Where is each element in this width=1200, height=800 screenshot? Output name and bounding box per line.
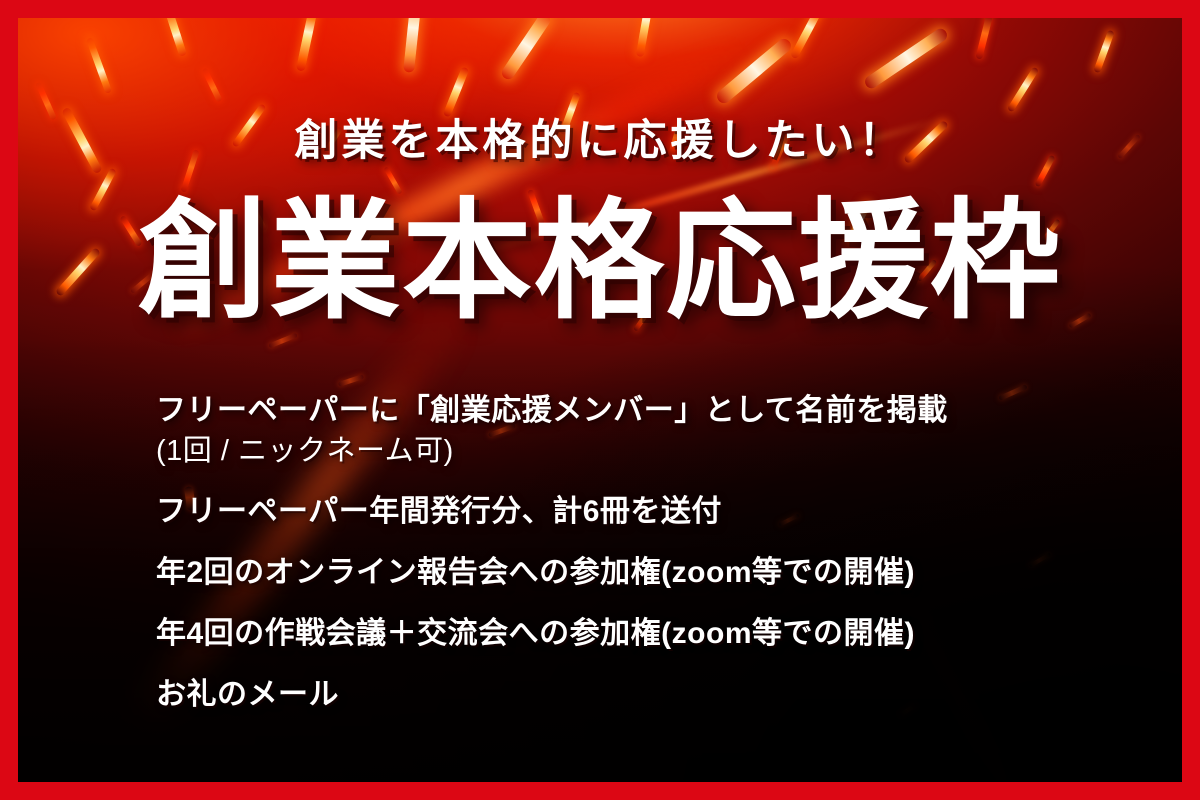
poster-title: 創業本格応援枠 <box>18 196 1182 326</box>
benefit-main-text: 年2回のオンライン報告会への参加権(zoom等での開催) <box>156 554 1136 591</box>
benefit-main-text: フリーペーパー年間発行分、計6冊を送付 <box>156 493 1136 530</box>
benefit-main-text: 年4回の作戦会議＋交流会への参加権(zoom等での開催) <box>156 615 1136 652</box>
benefits-list: フリーペーパーに「創業応援メンバー」として名前を掲載 (1回 / ニックネーム可… <box>156 392 1136 732</box>
benefit-item: 年4回の作戦会議＋交流会への参加権(zoom等での開催) <box>156 615 1136 652</box>
benefit-item: フリーペーパー年間発行分、計6冊を送付 <box>156 493 1136 530</box>
poster-content: 創業を本格的に応援したい！ 創業本格応援枠 フリーペーパーに「創業応援メンバー」… <box>18 18 1182 782</box>
benefit-sub-text: (1回 / ニックネーム可) <box>156 433 1136 471</box>
benefit-main-text: お礼のメール <box>156 676 1136 713</box>
benefit-item: 年2回のオンライン報告会への参加権(zoom等での開催) <box>156 554 1136 591</box>
benefit-item: お礼のメール <box>156 676 1136 713</box>
poster-stage: 創業を本格的に応援したい！ 創業本格応援枠 フリーペーパーに「創業応援メンバー」… <box>18 18 1182 782</box>
benefit-main-text: フリーペーパーに「創業応援メンバー」として名前を掲載 <box>156 392 1136 429</box>
poster-root: 創業を本格的に応援したい！ 創業本格応援枠 フリーペーパーに「創業応援メンバー」… <box>0 0 1200 800</box>
poster-subtitle: 創業を本格的に応援したい！ <box>18 106 1182 168</box>
benefit-item: フリーペーパーに「創業応援メンバー」として名前を掲載 (1回 / ニックネーム可… <box>156 392 1136 471</box>
